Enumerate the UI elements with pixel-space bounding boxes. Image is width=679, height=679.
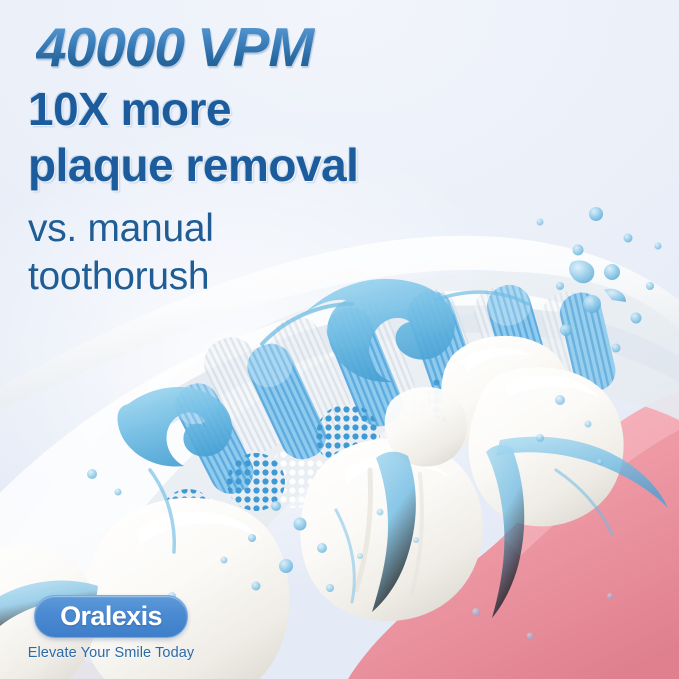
product-marketing-image: 40000VPM 10X more plaque removal vs. man… [0,0,679,679]
brand-logo-pill: Oralexis [34,595,188,638]
toothbrush-teeth-scene [0,0,679,679]
brand-logo-lockup: Oralexis Elevate Your Smile Today [21,595,201,661]
brand-name: Oralexis [35,596,187,637]
brand-tagline: Elevate Your Smile Today [21,645,201,661]
